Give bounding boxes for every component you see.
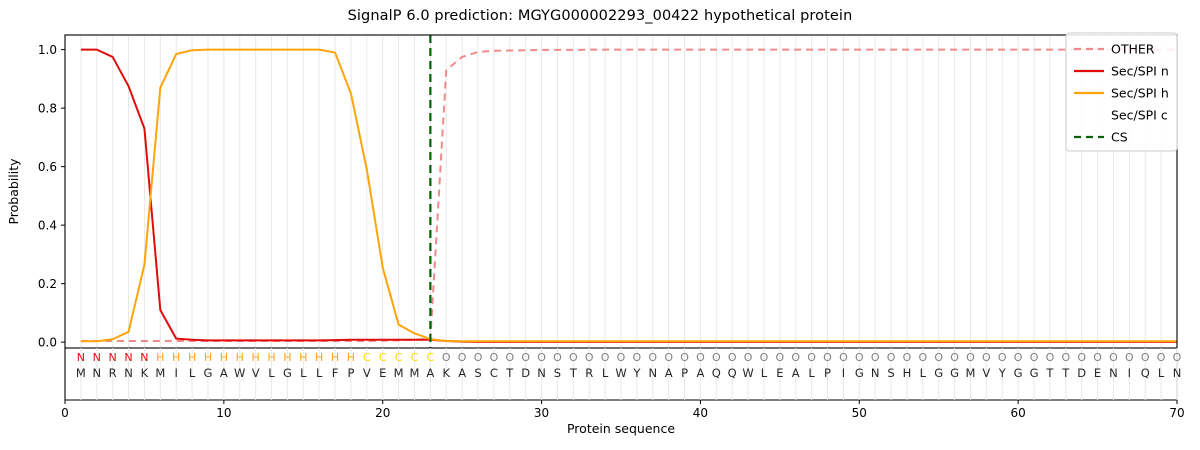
- y-tick-label: 0.4: [38, 219, 57, 233]
- sequence-letter: G: [1030, 366, 1039, 380]
- sequence-letter: T: [1061, 366, 1070, 380]
- region-letter: O: [569, 351, 578, 364]
- region-letter: O: [839, 351, 848, 364]
- sequence-letter: N: [537, 366, 546, 380]
- x-tick-label: 70: [1169, 406, 1184, 420]
- sequence-letter: V: [252, 366, 260, 380]
- sequence-letter: L: [189, 366, 196, 380]
- region-letter: O: [696, 351, 705, 364]
- legend-label[interactable]: Sec/SPI c: [1111, 108, 1168, 123]
- region-letter: H: [204, 351, 212, 364]
- sequence-letter: A: [665, 366, 673, 380]
- sequence-letter: M: [966, 366, 976, 380]
- region-letter: O: [966, 351, 975, 364]
- y-tick-label: 0.6: [38, 160, 57, 174]
- sequence-letter: I: [174, 366, 177, 380]
- sequence-letter: M: [155, 366, 165, 380]
- region-letter: O: [887, 351, 896, 364]
- region-letter: H: [156, 351, 164, 364]
- x-axis-title: Protein sequence: [567, 421, 675, 436]
- sequence-letter: H: [903, 366, 912, 380]
- region-letter: H: [331, 351, 339, 364]
- region-letter: H: [283, 351, 291, 364]
- sequence-letter: W: [234, 366, 245, 380]
- sequence-letter: A: [220, 366, 228, 380]
- series-line-sec-spi-h: [81, 50, 1177, 342]
- sequence-letter: A: [696, 366, 704, 380]
- region-letter: O: [1077, 351, 1086, 364]
- sequence-letter: T: [1045, 366, 1054, 380]
- legend-label[interactable]: Sec/SPI n: [1111, 64, 1169, 79]
- sequence-letter: M: [394, 366, 404, 380]
- sequence-letter: E: [379, 366, 386, 380]
- region-letter: O: [680, 351, 689, 364]
- sequence-letter: Q: [728, 366, 737, 380]
- sequence-letter: G: [204, 366, 213, 380]
- region-letter: O: [934, 351, 943, 364]
- sequence-letter: G: [1014, 366, 1023, 380]
- region-letter: H: [315, 351, 323, 364]
- sequence-letter: L: [602, 366, 609, 380]
- plot-canvas: 0.00.20.40.60.81.0010203040506070Protein…: [0, 0, 1200, 450]
- sequence-letter: L: [316, 366, 323, 380]
- sequence-letter: D: [521, 366, 530, 380]
- region-letter: O: [823, 351, 832, 364]
- sequence-letter: T: [569, 366, 578, 380]
- sequence-letter: R: [109, 366, 117, 380]
- region-letter: C: [363, 351, 371, 364]
- region-letter: O: [728, 351, 737, 364]
- sequence-letter: L: [1158, 366, 1165, 380]
- region-letter: O: [903, 351, 912, 364]
- region-letter: N: [77, 351, 85, 364]
- region-letter: H: [251, 351, 259, 364]
- sequence-letter: P: [681, 366, 688, 380]
- region-letter: N: [93, 351, 101, 364]
- sequence-letter: R: [585, 366, 593, 380]
- region-letter: N: [109, 351, 117, 364]
- region-letter: O: [458, 351, 467, 364]
- sequence-letter: C: [490, 366, 498, 380]
- sequence-letter: K: [141, 366, 149, 380]
- region-letter: H: [299, 351, 307, 364]
- y-tick-label: 0.0: [38, 336, 57, 350]
- region-letter: O: [1030, 351, 1039, 364]
- y-tick-label: 0.2: [38, 277, 57, 291]
- region-letter: O: [1141, 351, 1150, 364]
- sequence-letter: M: [76, 366, 86, 380]
- region-letter: O: [855, 351, 864, 364]
- sequence-letter: M: [410, 366, 420, 380]
- region-letter: O: [617, 351, 626, 364]
- sequence-letter: E: [776, 366, 783, 380]
- region-letter: O: [664, 351, 673, 364]
- x-tick-label: 40: [693, 406, 708, 420]
- region-letter: O: [601, 351, 610, 364]
- region-letter: O: [760, 351, 769, 364]
- region-letter: O: [1014, 351, 1023, 364]
- sequence-letter: G: [855, 366, 864, 380]
- series-line-sec-spi-c: [81, 50, 1177, 342]
- region-letter: O: [950, 351, 959, 364]
- region-letter: O: [998, 351, 1007, 364]
- legend-label[interactable]: CS: [1111, 130, 1128, 145]
- y-axis: 0.00.20.40.60.81.0: [38, 43, 65, 350]
- sequence-letter: N: [1173, 366, 1182, 380]
- region-letter: O: [505, 351, 514, 364]
- sequence-letter: D: [1077, 366, 1086, 380]
- region-letter: O: [1093, 351, 1102, 364]
- sequence-letter: V: [982, 366, 990, 380]
- sequence-letter: G: [934, 366, 943, 380]
- sequence-letter: I: [842, 366, 845, 380]
- sequence-letter: L: [761, 366, 768, 380]
- y-tick-label: 0.8: [38, 102, 57, 116]
- sequence-letter: G: [950, 366, 959, 380]
- region-letter: O: [791, 351, 800, 364]
- region-letter: O: [490, 351, 499, 364]
- legend[interactable]: OTHERSec/SPI nSec/SPI hSec/SPI cCS: [1066, 33, 1177, 151]
- x-tick-label: 60: [1011, 406, 1026, 420]
- region-letter: H: [267, 351, 275, 364]
- sequence-letter: P: [824, 366, 831, 380]
- sequence-letter: N: [871, 366, 880, 380]
- region-letter: O: [871, 351, 880, 364]
- sequence-letter: V: [363, 366, 371, 380]
- sequence-letter: Y: [632, 366, 641, 380]
- region-letter: O: [918, 351, 927, 364]
- sequence-letter: F: [332, 366, 339, 380]
- sequence-letter: S: [554, 366, 561, 380]
- region-letter: O: [633, 351, 642, 364]
- region-letter: O: [776, 351, 785, 364]
- region-letter: H: [188, 351, 196, 364]
- region-letter: O: [442, 351, 451, 364]
- region-letter: N: [124, 351, 132, 364]
- sequence-letter: I: [1128, 366, 1131, 380]
- region-letter: H: [347, 351, 355, 364]
- sequence-letter: A: [426, 366, 434, 380]
- x-tick-label: 0: [61, 406, 69, 420]
- sequence-letter: L: [808, 366, 815, 380]
- sequence-letter-row: MNRNKMILGAWVLGLLFPVEMMAKASCTDNSTRLWYNAPA…: [76, 366, 1181, 380]
- region-letter: O: [537, 351, 546, 364]
- sequence-letter: N: [1109, 366, 1118, 380]
- y-axis-title: Probability: [6, 158, 21, 225]
- sequence-letter: L: [300, 366, 307, 380]
- region-letter: O: [1125, 351, 1134, 364]
- x-tick-label: 20: [375, 406, 390, 420]
- x-tick-label: 10: [216, 406, 231, 420]
- sequence-letter: P: [347, 366, 354, 380]
- legend-label[interactable]: Sec/SPI h: [1111, 86, 1169, 101]
- sequence-letter: W: [615, 366, 626, 380]
- x-tick-label: 50: [852, 406, 867, 420]
- sequence-letter: N: [124, 366, 133, 380]
- region-letter: H: [236, 351, 244, 364]
- sequence-letter: E: [1094, 366, 1101, 380]
- sequence-letter: W: [742, 366, 753, 380]
- sequence-letter: S: [474, 366, 481, 380]
- signalp-plot-figure: SignalP 6.0 prediction: MGYG000002293_00…: [0, 0, 1200, 450]
- sequence-letter: Q: [1141, 366, 1150, 380]
- sequence-letter: A: [458, 366, 466, 380]
- sequence-letter: S: [887, 366, 894, 380]
- region-letter: C: [379, 351, 387, 364]
- region-letter: O: [982, 351, 991, 364]
- sequence-letter: A: [792, 366, 800, 380]
- sequence-letter: Y: [998, 366, 1007, 380]
- region-letter: H: [172, 351, 180, 364]
- region-letter: O: [648, 351, 657, 364]
- region-letter: O: [474, 351, 483, 364]
- sequence-letter: N: [648, 366, 657, 380]
- region-letter-row: NNNNNHHHHHHHHHHHHHCCCCCOOOOOOOOOOOOOOOOO…: [77, 351, 1182, 364]
- region-letter: O: [1046, 351, 1055, 364]
- region-letter: C: [411, 351, 419, 364]
- region-letter: O: [521, 351, 530, 364]
- sequence-letter: Q: [712, 366, 721, 380]
- region-letter: C: [395, 351, 403, 364]
- region-letter: O: [1061, 351, 1070, 364]
- region-letter: N: [140, 351, 148, 364]
- region-letter: O: [807, 351, 816, 364]
- region-letter: H: [220, 351, 228, 364]
- region-letter: O: [553, 351, 562, 364]
- y-tick-label: 1.0: [38, 43, 57, 57]
- region-letter: O: [585, 351, 594, 364]
- x-tick-label: 30: [534, 406, 549, 420]
- sequence-letter: L: [268, 366, 275, 380]
- region-letter: O: [744, 351, 753, 364]
- region-letter: C: [427, 351, 435, 364]
- series-line-other: [81, 50, 1177, 341]
- legend-label[interactable]: OTHER: [1111, 42, 1155, 57]
- sequence-letter: G: [283, 366, 292, 380]
- gridlines: [81, 35, 1177, 348]
- sequence-letter: K: [442, 366, 450, 380]
- sequence-letter: N: [92, 366, 101, 380]
- sequence-letter: L: [920, 366, 927, 380]
- region-letter: O: [1157, 351, 1166, 364]
- region-letter: O: [712, 351, 721, 364]
- region-letter: O: [1173, 351, 1182, 364]
- sequence-letter: T: [505, 366, 514, 380]
- series-line-sec-spi-n: [81, 50, 1177, 342]
- region-letter: O: [1109, 351, 1118, 364]
